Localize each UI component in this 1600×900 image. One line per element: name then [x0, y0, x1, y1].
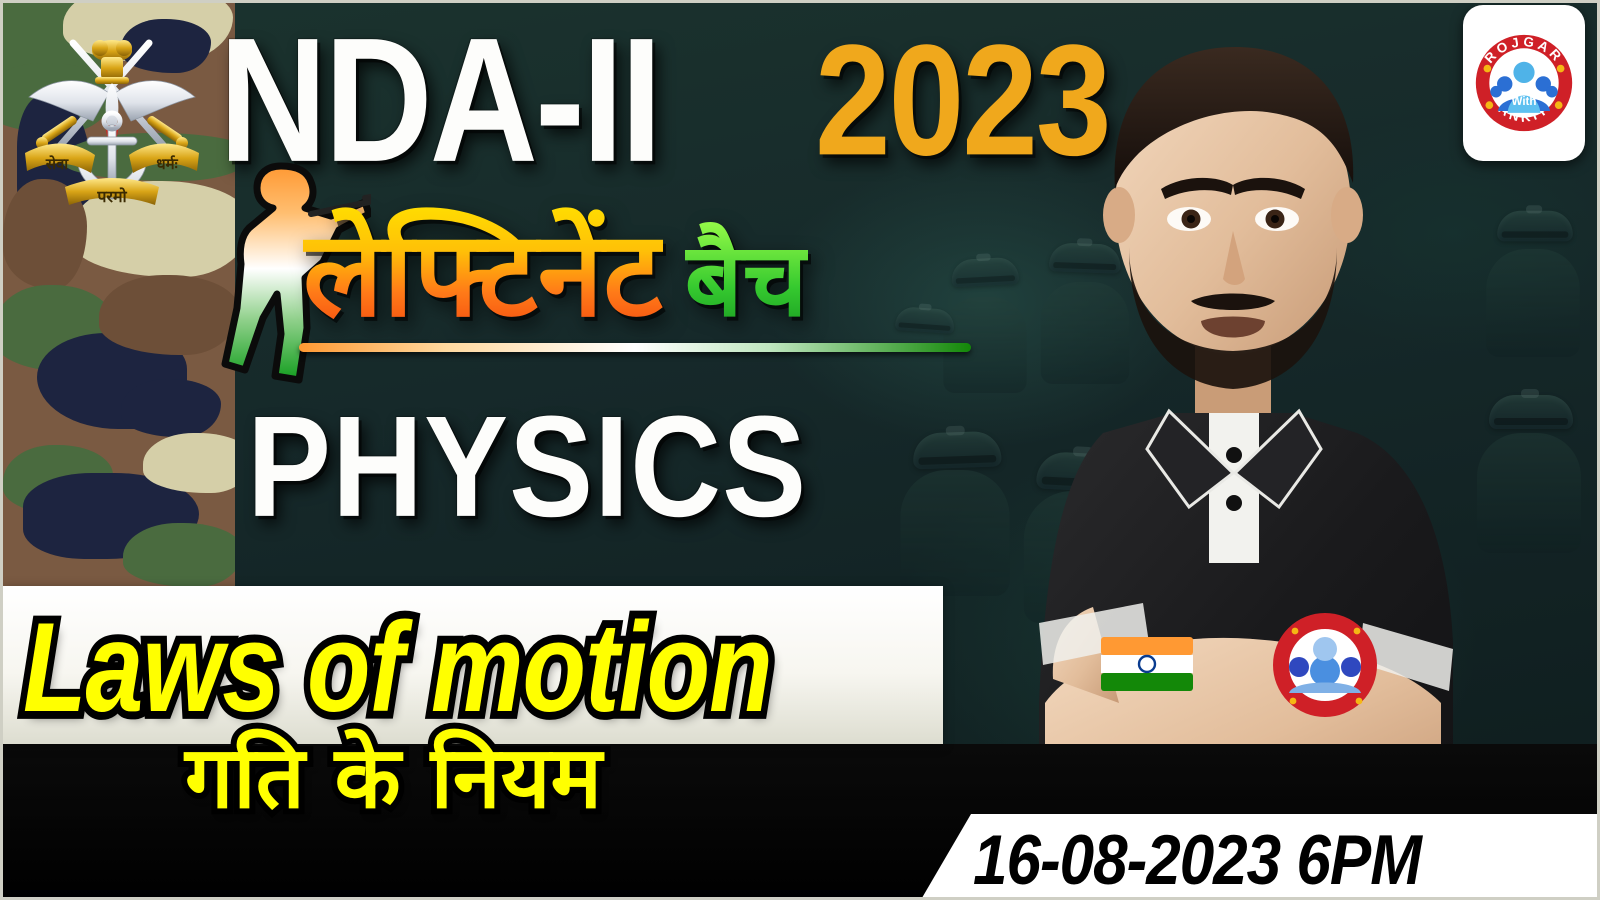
emblem-motto-2: धर्मः	[156, 155, 178, 173]
topic-title-hindi: गति के नियम	[185, 725, 602, 833]
subject-heading: PHYSICS	[247, 395, 807, 539]
chest-brand-logo	[1279, 619, 1371, 711]
brand-logo: ROJGAR ANKIT With	[1463, 5, 1585, 161]
youtube-thumbnail: सेवा धर्मः परमो NDA-II 2023	[0, 0, 1600, 900]
emblem-motto-1: सेवा	[45, 155, 69, 173]
nda-emblem: सेवा धर्मः परमो	[17, 21, 207, 211]
brand-name-center: With	[1512, 96, 1537, 108]
india-flag-patch-icon	[1101, 637, 1193, 691]
emblem-motto-3: परमो	[96, 187, 127, 206]
batch-heading: लेफ्टिनेंटबैच	[303, 199, 808, 359]
tricolor-underline	[299, 343, 971, 352]
schedule-text: 16-08-2023 6PM	[973, 826, 1421, 897]
batch-word-text: बैच	[685, 216, 808, 347]
batch-name-text: लेफ्टिनेंट	[303, 199, 663, 350]
topic-title-english: Laws of motion	[23, 601, 772, 735]
